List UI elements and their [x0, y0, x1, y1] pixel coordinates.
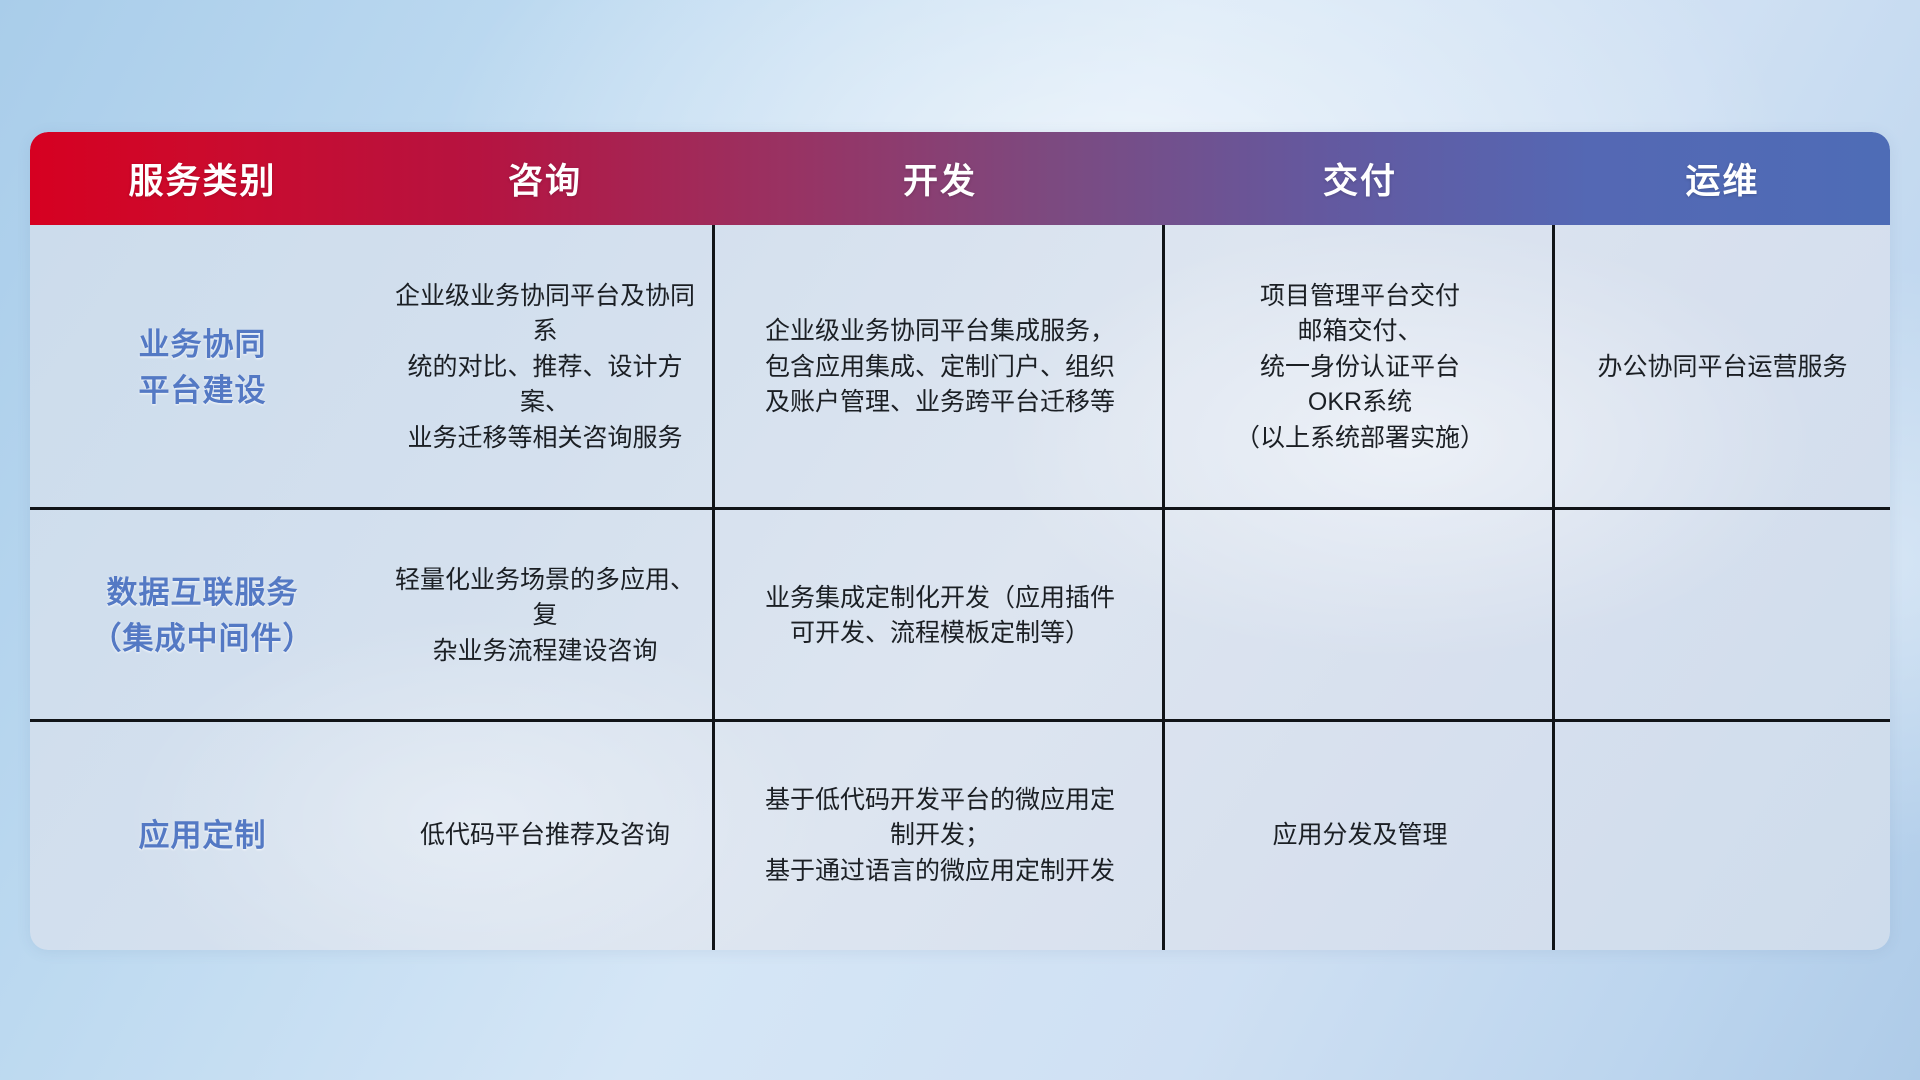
cell-consulting: 轻量化业务场景的多应用、复 杂业务流程建设咨询: [375, 510, 715, 722]
row-category-label: 数据互联服务 （集成中间件）: [30, 510, 375, 722]
column-header-delivery: 交付: [1165, 132, 1555, 225]
table-row: 应用定制 低代码平台推荐及咨询 基于低代码开发平台的微应用定 制开发； 基于通过…: [30, 722, 1890, 950]
column-header-operations: 运维: [1555, 132, 1890, 225]
cell-delivery: 应用分发及管理: [1165, 722, 1555, 950]
cell-consulting: 企业级业务协同平台及协同系 统的对比、推荐、设计方案、 业务迁移等相关咨询服务: [375, 225, 715, 510]
cell-operations: [1555, 722, 1890, 950]
cell-delivery: 项目管理平台交付 邮箱交付、 统一身份认证平台 OKR系统 （以上系统部署实施）: [1165, 225, 1555, 510]
cell-operations: [1555, 510, 1890, 722]
service-matrix-table: 服务类别 咨询 开发 交付 运维 业务协同 平台建设 企业级业务协同平台及协同系…: [30, 132, 1890, 950]
row-category-label: 业务协同 平台建设: [30, 225, 375, 510]
slide-canvas: 服务类别 咨询 开发 交付 运维 业务协同 平台建设 企业级业务协同平台及协同系…: [0, 0, 1920, 1080]
table-body: 业务协同 平台建设 企业级业务协同平台及协同系 统的对比、推荐、设计方案、 业务…: [30, 225, 1890, 950]
cell-development: 企业级业务协同平台集成服务， 包含应用集成、定制门户、组织 及账户管理、业务跨平…: [715, 225, 1165, 510]
column-header-consulting: 咨询: [375, 132, 715, 225]
cell-delivery: [1165, 510, 1555, 722]
cell-development: 业务集成定制化开发（应用插件 可开发、流程模板定制等）: [715, 510, 1165, 722]
table-row: 数据互联服务 （集成中间件） 轻量化业务场景的多应用、复 杂业务流程建设咨询 业…: [30, 510, 1890, 722]
cell-consulting: 低代码平台推荐及咨询: [375, 722, 715, 950]
table-row: 业务协同 平台建设 企业级业务协同平台及协同系 统的对比、推荐、设计方案、 业务…: [30, 225, 1890, 510]
column-header-development: 开发: [715, 132, 1165, 225]
cell-development: 基于低代码开发平台的微应用定 制开发； 基于通过语言的微应用定制开发: [715, 722, 1165, 950]
row-category-label: 应用定制: [30, 722, 375, 950]
table-header-row: 服务类别 咨询 开发 交付 运维: [30, 132, 1890, 225]
column-header-service-category: 服务类别: [30, 132, 375, 225]
cell-operations: 办公协同平台运营服务: [1555, 225, 1890, 510]
